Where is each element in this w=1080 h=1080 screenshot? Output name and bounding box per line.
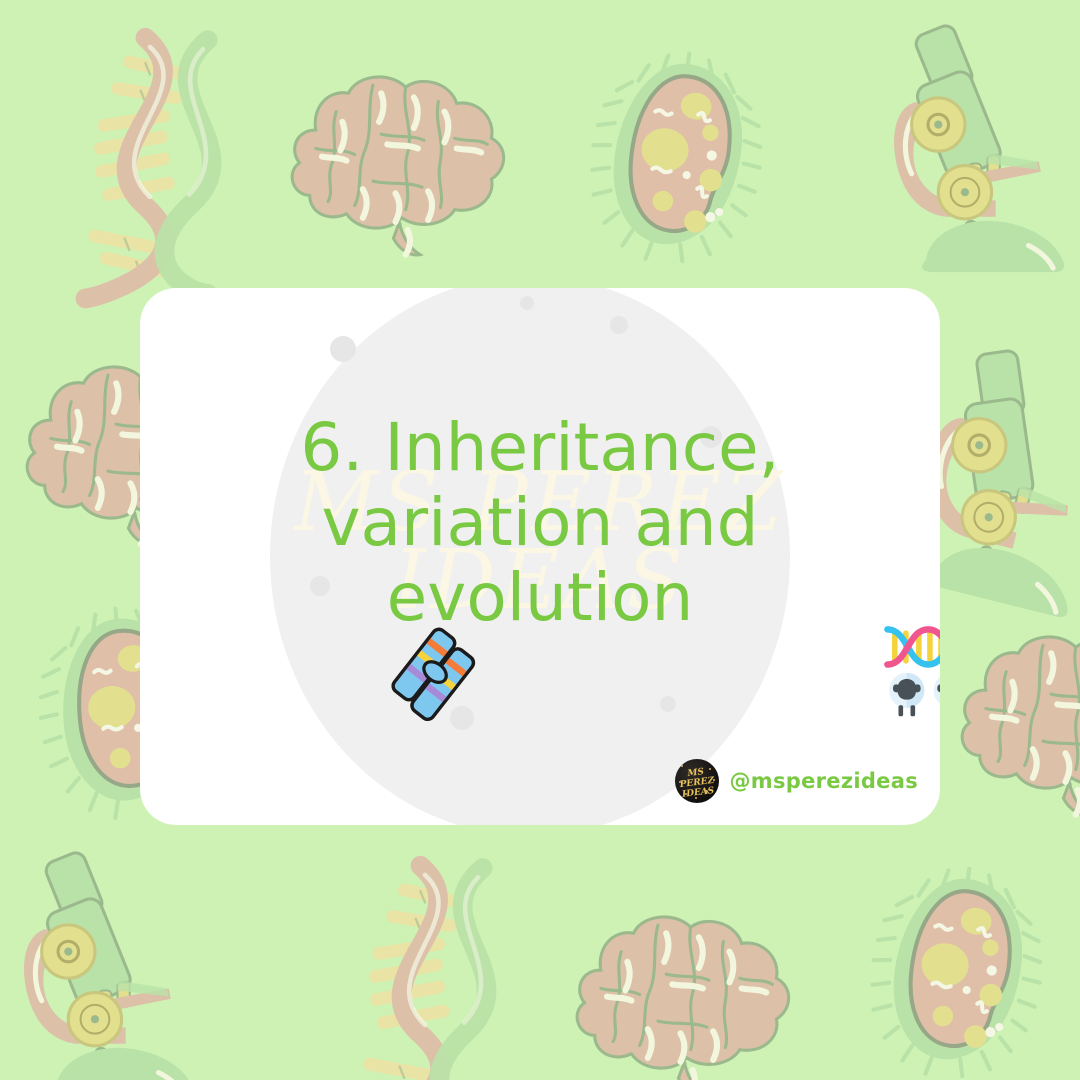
- brand-footer: MS PEREZ IDEAS @msperezideas: [675, 759, 918, 803]
- social-handle[interactable]: @msperezideas: [729, 769, 918, 793]
- title-line-2: variation and: [190, 485, 890, 560]
- brain-icon: [275, 40, 520, 265]
- brand-logo-badge: MS PEREZ IDEAS: [675, 759, 719, 803]
- brain-icon: [560, 880, 805, 1080]
- dna-helix-icon: [305, 838, 545, 1080]
- dna-helix-icon: [30, 10, 270, 310]
- microscope-icon: [885, 8, 1080, 278]
- paramecium-icon: [857, 850, 1058, 1080]
- title-line-1: 6. Inheritance,: [190, 410, 890, 485]
- page-title: 6. Inheritance, variation and evolution: [190, 410, 890, 636]
- chromosome-pair-sticker: [388, 626, 484, 722]
- title-line-3: evolution: [190, 560, 890, 635]
- brain-icon: [945, 600, 1080, 825]
- cloning-sheep-sticker: [878, 622, 940, 720]
- paramecium-icon: [577, 35, 778, 280]
- title-card: MS PEREZ IDEAS 6. Inheritance, variation…: [140, 288, 940, 825]
- microscope-icon: [15, 835, 220, 1080]
